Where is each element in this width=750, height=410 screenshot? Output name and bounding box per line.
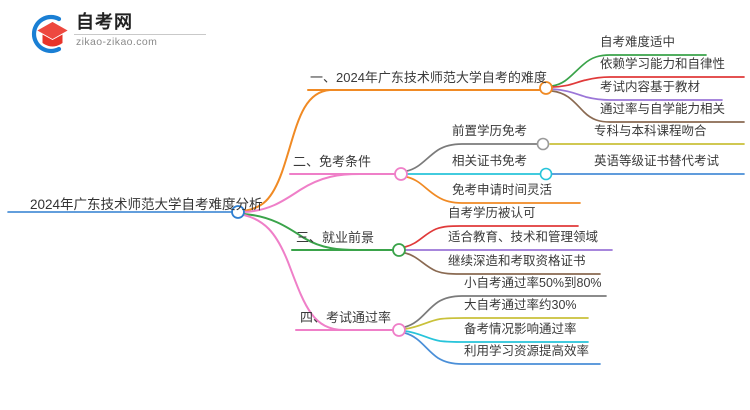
branch-3-child-1-label[interactable]: 自考学历被认可 bbox=[448, 207, 536, 220]
branch-1-child-3-label[interactable]: 考试内容基于教材 bbox=[600, 81, 700, 94]
node-circle-branch-3[interactable] bbox=[393, 244, 405, 256]
node-circle-b2-child-2[interactable] bbox=[541, 169, 552, 180]
branch-1-child-1-label[interactable]: 自考难度适中 bbox=[600, 36, 675, 49]
branch-3-child-3-label[interactable]: 继续深造和考取资格证书 bbox=[448, 255, 586, 268]
branch-3-label[interactable]: 三、就业前景 bbox=[296, 231, 374, 244]
branch-2-child-3-label[interactable]: 免考申请时间灵活 bbox=[452, 184, 552, 197]
branch-1-label[interactable]: 一、2024年广东技术师范大学自考的难度 bbox=[310, 71, 547, 84]
branch-4-child-2-label[interactable]: 大自考通过率约30% bbox=[464, 299, 577, 312]
branch-4-child-4-label[interactable]: 利用学习资源提高效率 bbox=[464, 345, 589, 358]
branch-3-child-2-label[interactable]: 适合教育、技术和管理领域 bbox=[448, 231, 598, 244]
wire-branch-2 bbox=[244, 174, 400, 212]
mindmap-canvas: 自考网 zikao-zikao.com bbox=[0, 0, 750, 410]
node-circle-b2-child-1[interactable] bbox=[538, 139, 549, 150]
root-node-label[interactable]: 2024年广东技术师范大学自考难度分析 bbox=[30, 198, 263, 212]
branch-4-label[interactable]: 四、考试通过率 bbox=[300, 311, 391, 324]
branch-2-label[interactable]: 二、免考条件 bbox=[293, 155, 371, 168]
branch-2-grandchild-1-label[interactable]: 专科与本科课程吻合 bbox=[594, 125, 707, 138]
node-circle-branch-2[interactable] bbox=[395, 168, 407, 180]
branch-1-child-4-label[interactable]: 通过率与自学能力相关 bbox=[600, 103, 725, 116]
branch-2-grandchild-2-label[interactable]: 英语等级证书替代考试 bbox=[594, 155, 719, 168]
branch-2-child-1-label[interactable]: 前置学历免考 bbox=[452, 125, 527, 138]
node-circle-branch-4[interactable] bbox=[393, 324, 405, 336]
branch-4-child-1-label[interactable]: 小自考通过率50%到80% bbox=[464, 277, 602, 290]
branch-1-child-2-label[interactable]: 依赖学习能力和自律性 bbox=[600, 58, 725, 71]
branch-2-child-2-label[interactable]: 相关证书免考 bbox=[452, 155, 527, 168]
branch-4-child-3-label[interactable]: 备考情况影响通过率 bbox=[464, 323, 577, 336]
